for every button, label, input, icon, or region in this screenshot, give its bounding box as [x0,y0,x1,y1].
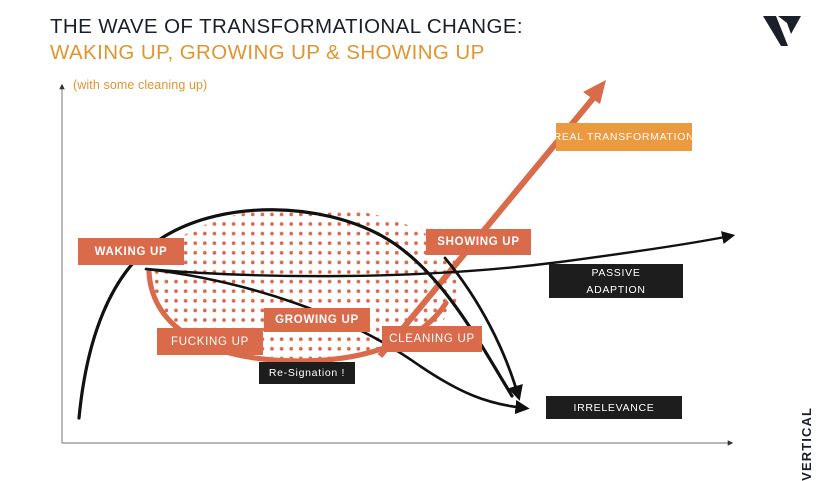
real-transformation-arrow [380,80,606,356]
slide-canvas: THE WAVE OF TRANSFORMATIONAL CHANGE: WAK… [0,0,820,459]
label-real-transformation: REAL TRANSFORMATION [556,123,692,151]
label-irrelevance: IRRELEVANCE [546,396,682,419]
page-title: THE WAVE OF TRANSFORMATIONAL CHANGE: WAK… [50,14,710,66]
vertical-v-logo-icon [762,14,802,48]
label-passive-adaption-1: PASSIVE [549,264,683,281]
vertical-axis-label: VERTICAL [799,407,814,481]
title-line-2: WAKING UP, GROWING UP & SHOWING UP [50,40,710,66]
title-note: (with some cleaning up) [73,78,207,92]
label-fucking-up: FUCKING UP [157,328,263,355]
wave-diagram [0,0,820,459]
label-cleaning-up: CLEANING UP [382,326,482,352]
label-showing-up: SHOWING UP [426,229,531,255]
label-waking-up: WAKING UP [78,238,184,265]
label-re-signation: Re-Signation ! [259,362,355,384]
label-growing-up: GROWING UP [264,308,370,332]
title-line-1: THE WAVE OF TRANSFORMATIONAL CHANGE: [50,14,710,40]
label-passive-adaption-2: ADAPTION [549,281,683,298]
